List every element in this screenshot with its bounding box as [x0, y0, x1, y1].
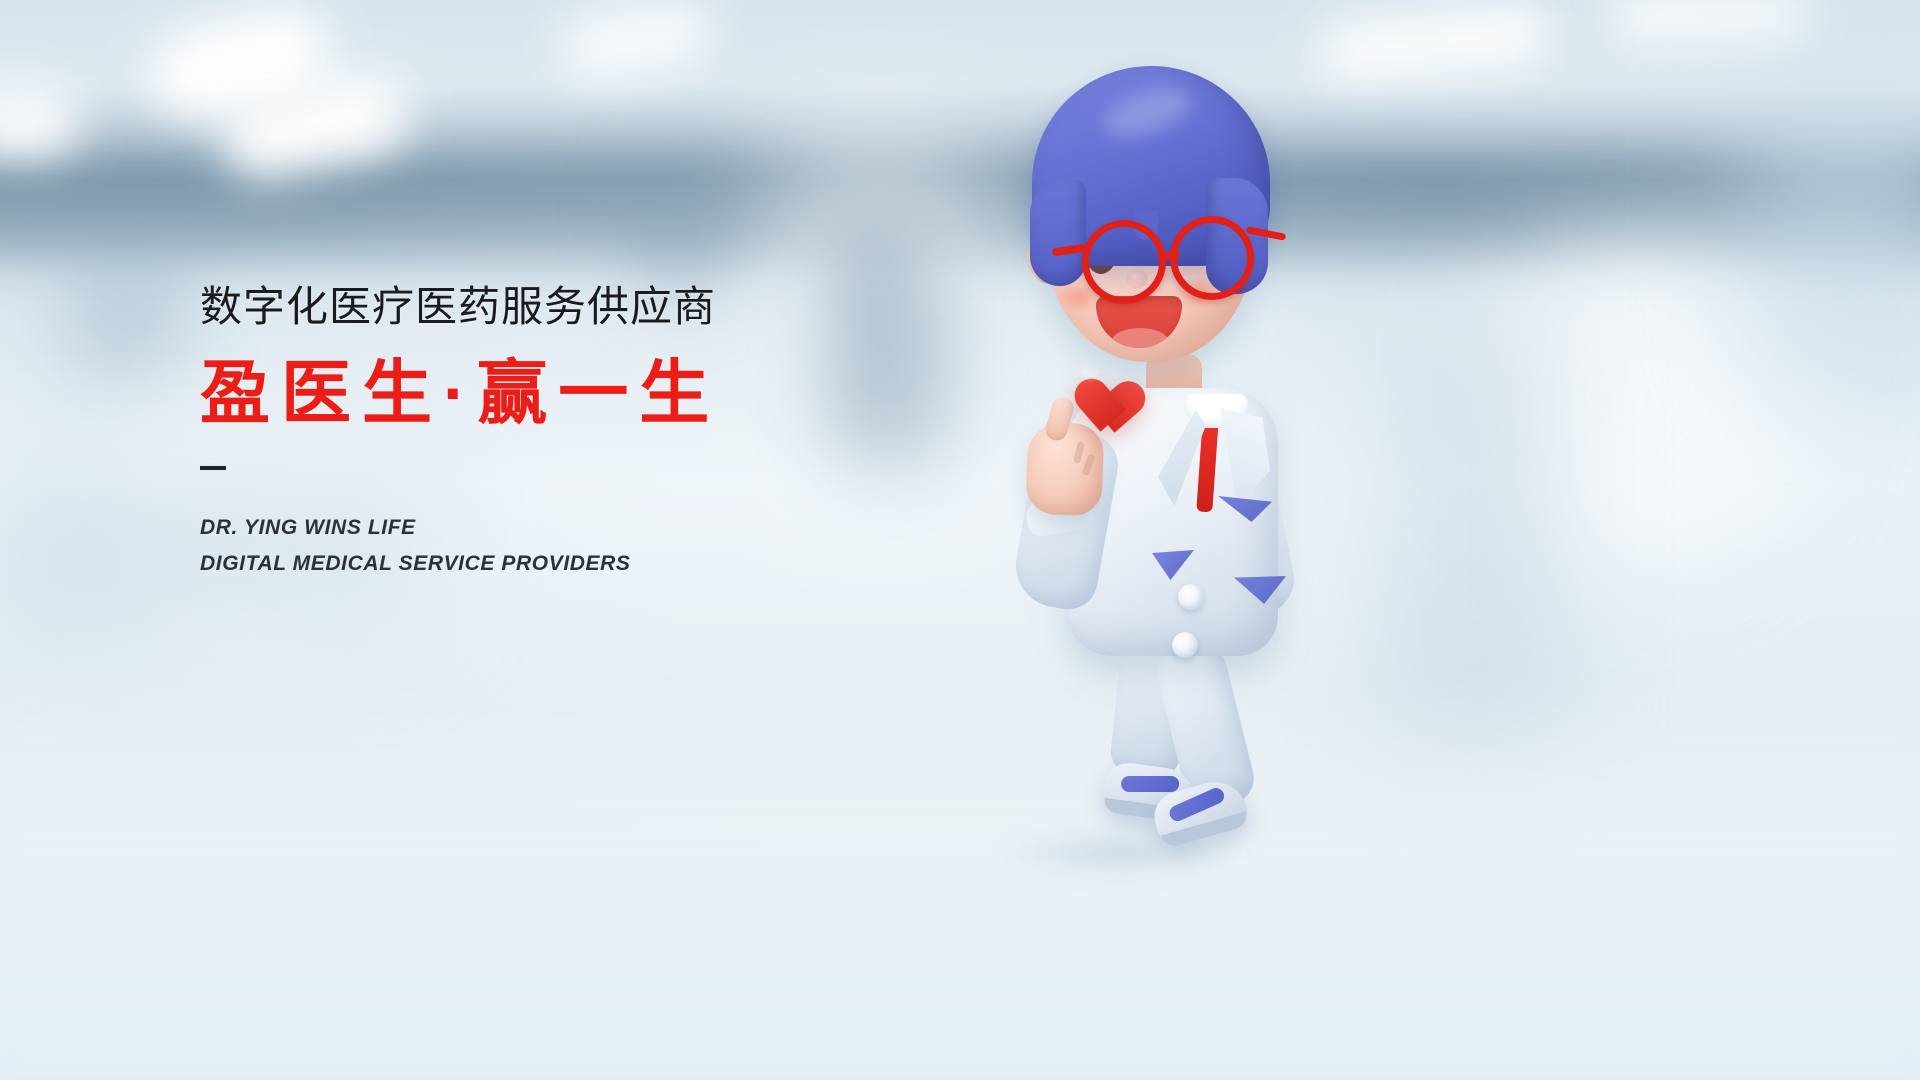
background-window	[1740, 60, 1920, 390]
mascot-legs	[1096, 628, 1276, 848]
glasses-icon	[1030, 216, 1280, 314]
hero-copy-block: 数字化医疗医药服务供应商 盈医生·赢一生 DR. YING WINS LIFE …	[200, 286, 960, 582]
glasses-temple-left	[1052, 244, 1087, 257]
background-figure-3	[60, 250, 190, 380]
shoe-stripe-icon	[1167, 785, 1226, 823]
glasses-lens-left	[1082, 220, 1166, 304]
hand-knuckle-2	[1081, 453, 1095, 476]
doctor-mascot-illustration	[960, 40, 1360, 870]
mascot-body	[1018, 370, 1318, 870]
glasses-lens-right	[1170, 216, 1254, 300]
coat-button-2	[1172, 632, 1198, 658]
mascot-tongue	[1112, 328, 1168, 348]
coat-accent-2	[1152, 550, 1194, 580]
coat-button-1	[1178, 584, 1204, 610]
glasses-temple-right	[1246, 226, 1287, 241]
banner-stage: 数字化医疗医药服务供应商 盈医生·赢一生 DR. YING WINS LIFE …	[0, 0, 1920, 1080]
background-pillar	[640, 170, 730, 290]
title-divider	[200, 466, 226, 470]
subtitle-english-line2: DIGITAL MEDICAL SERVICE PROVIDERS	[200, 546, 960, 582]
coat-accent-1	[1218, 496, 1272, 522]
page-title: 盈医生·赢一生	[200, 358, 960, 428]
headline-chinese: 数字化医疗医药服务供应商	[200, 286, 960, 328]
bokeh-light-3	[0, 88, 80, 158]
subtitle-english-line1: DR. YING WINS LIFE	[200, 510, 960, 546]
mascot-head	[1000, 60, 1300, 390]
hair-highlight	[1098, 79, 1197, 147]
bokeh-light-6	[1610, 0, 1810, 44]
mascot-hand	[1025, 422, 1104, 517]
mascot-lapel-right	[1216, 408, 1270, 506]
hand-knuckle-1	[1073, 441, 1085, 464]
shoe-stripe-icon	[1121, 776, 1179, 792]
